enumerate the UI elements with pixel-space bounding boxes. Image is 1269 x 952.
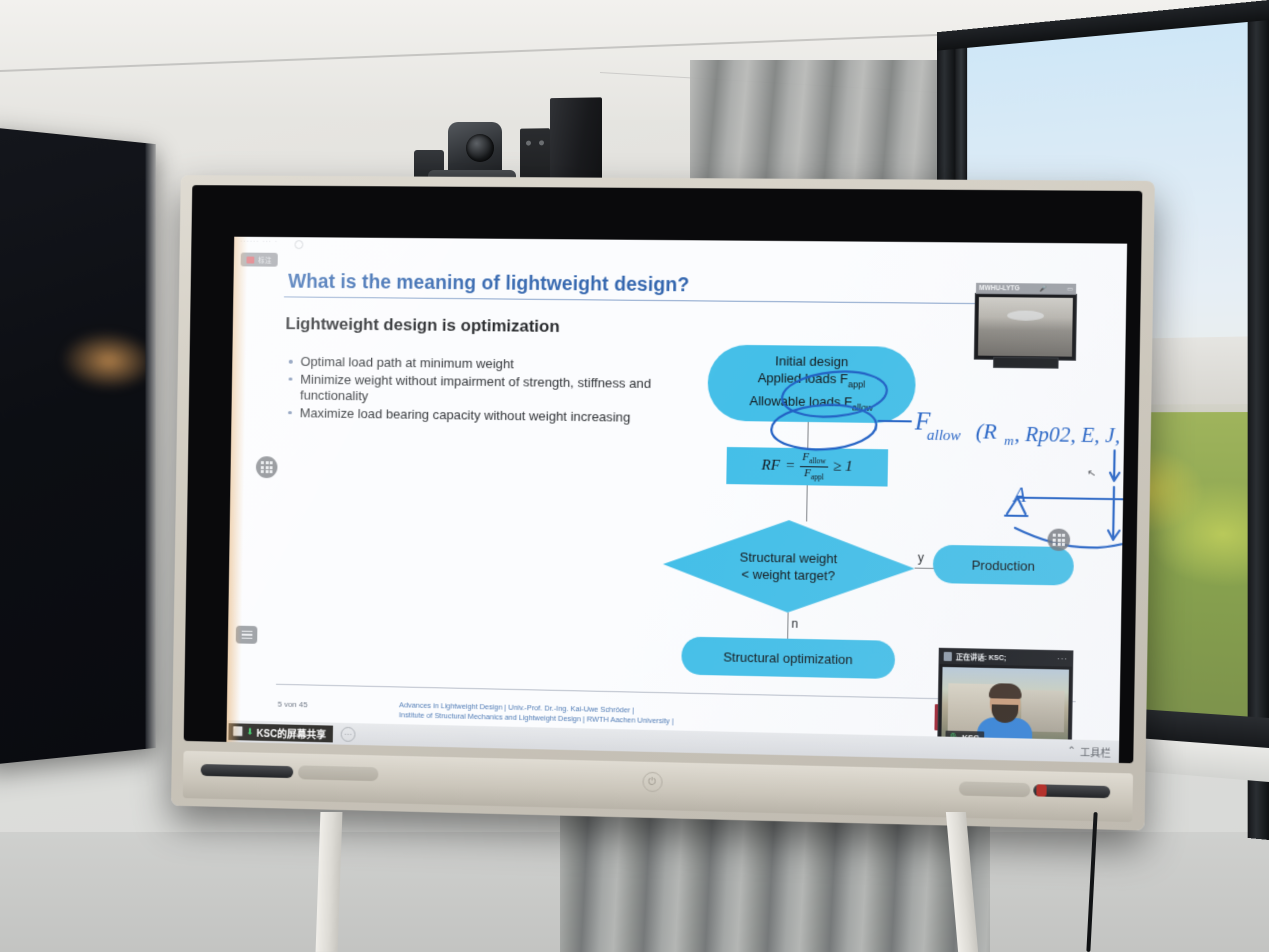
- initial-line-3: Allowable loads Fallow: [749, 392, 873, 416]
- status-light-red: [1036, 784, 1046, 796]
- reserve-factor-formula: RF = Fallow Fappl ≥ 1: [761, 452, 853, 482]
- ink-center-line: [1113, 487, 1114, 540]
- microphone-icon[interactable]: 🎤: [1040, 285, 1048, 292]
- screen-icon[interactable]: ▭: [1067, 286, 1073, 293]
- footer-credits: Advances in Lightweight Design | Univ.-P…: [399, 700, 674, 726]
- toolbar-toggle[interactable]: ⌃ 工具栏: [1067, 743, 1111, 759]
- initial-line-1: Initial design: [750, 352, 874, 370]
- left-vent: [298, 765, 378, 781]
- screen-share-indicator[interactable]: ⬜ ⬇ KSC的屏幕共享: [228, 723, 333, 742]
- bullet-list: Optimal load path at minimum weight Mini…: [286, 354, 662, 427]
- grid-icon: [261, 461, 273, 473]
- ink-center-arrow: [1108, 530, 1119, 539]
- connector-formula-to-decision: [806, 485, 808, 521]
- flowchart-optimization-node: Structural optimization: [681, 637, 895, 680]
- flowchart-production-node: Production: [933, 545, 1074, 586]
- connector-decision-to-production: [915, 568, 935, 570]
- wall-mounted-monitor: [0, 126, 151, 766]
- decision-line-2: < weight target?: [739, 566, 837, 585]
- share-label: KSC的屏幕共享: [256, 724, 326, 740]
- window-frame-right: [1248, 0, 1269, 840]
- participant-name: MWHU-LYTG: [979, 285, 1020, 292]
- list-icon: [241, 630, 252, 639]
- interactive-display[interactable]: What is the meaning of lightweight desig…: [171, 175, 1155, 830]
- list-item: Minimize weight without impairment of st…: [286, 371, 662, 408]
- title-underline: [284, 296, 1064, 305]
- slide-title: What is the meaning of lightweight desig…: [288, 271, 690, 298]
- monitor-edge: [145, 143, 155, 749]
- flowchart-initial-node: Initial design Applied loads Fappl Allow…: [707, 345, 916, 424]
- ink-symbol-F: F: [1125, 453, 1127, 475]
- no-branch-label: n: [791, 617, 798, 631]
- participant-video-thumbnail[interactable]: MWHU-LYTG 🎤 ▭: [974, 293, 1077, 361]
- room-photo-scene: What is the meaning of lightweight desig…: [0, 0, 1269, 952]
- power-indicator-icon[interactable]: ⏻: [642, 772, 662, 792]
- left-speaker-grille: [201, 764, 294, 778]
- shared-screen[interactable]: What is the meaning of lightweight desig…: [226, 237, 1127, 763]
- connector-initial-to-formula: [807, 422, 809, 448]
- yes-branch-label: y: [918, 551, 924, 565]
- right-vent: [959, 781, 1031, 797]
- active-speaker-label: 正在讲话: KSC;: [956, 652, 1006, 663]
- flowchart-formula-node: RF = Fallow Fappl ≥ 1: [726, 447, 888, 487]
- display-panel: What is the meaning of lightweight desig…: [184, 185, 1143, 763]
- monitor-light-reflection: [60, 329, 155, 391]
- caret-up-icon: ⌃: [1067, 745, 1076, 756]
- more-options-icon[interactable]: ···: [1057, 654, 1068, 663]
- list-item: Maximize load bearing capacity without w…: [286, 405, 661, 426]
- slide-page-number: 5 von 45: [278, 700, 308, 710]
- decision-line-1: Structural weight: [740, 548, 838, 567]
- camera-lens: [466, 134, 494, 162]
- self-view-header: 正在讲话: KSC; ···: [940, 649, 1073, 667]
- toolbar-label: 工具栏: [1080, 743, 1111, 759]
- initial-line-2: Applied loads Fappl: [750, 369, 874, 393]
- ink-load-arrow: [1110, 450, 1120, 481]
- meeting-info-icon[interactable]: [294, 240, 303, 249]
- speaker-badge-icon: [944, 652, 952, 661]
- more-button[interactable]: ···: [341, 726, 356, 741]
- participant-thumb-header: MWHU-LYTG 🎤 ▭: [976, 283, 1076, 295]
- grid-icon: [1053, 534, 1065, 546]
- classroom-video-feed: [978, 297, 1073, 357]
- flowchart-decision-node: Structural weight < weight target?: [662, 518, 915, 615]
- download-icon: ⬇: [246, 726, 254, 737]
- annotation-icon: [246, 256, 254, 263]
- annotation-label: 标注: [258, 255, 272, 265]
- connector-decision-to-optimization: [787, 613, 789, 641]
- thumbnail-filmstrip: [993, 357, 1059, 369]
- slide-subtitle: Lightweight design is optimization: [285, 314, 560, 337]
